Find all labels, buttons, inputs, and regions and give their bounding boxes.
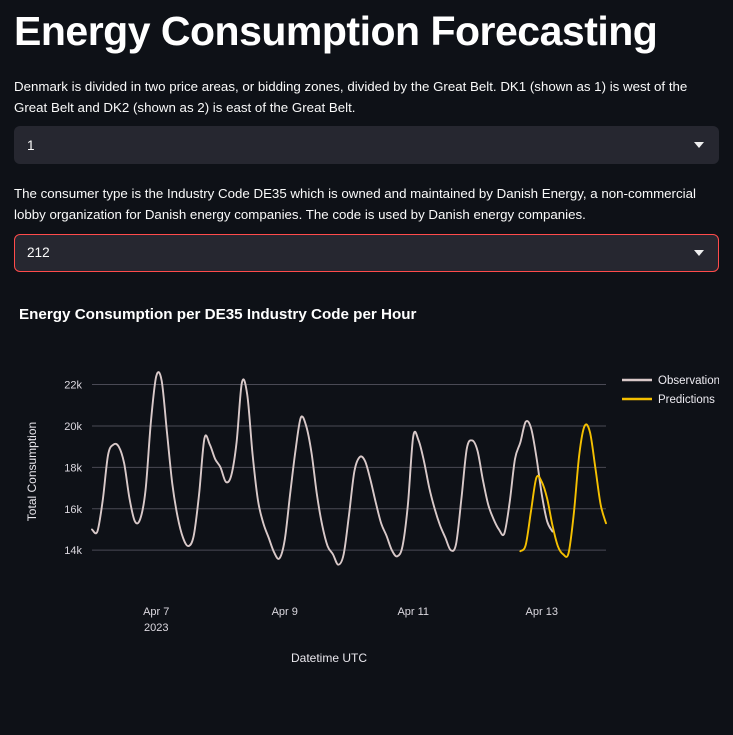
observations-line (92, 372, 552, 565)
x-tick-sublabel: 2023 (144, 622, 168, 634)
consumer-type-select-value: 212 (27, 245, 694, 260)
y-tick-label: 16k (64, 503, 82, 515)
y-axis-title: Total Consumption (25, 421, 39, 520)
consumer-type-description: The consumer type is the Industry Code D… (14, 184, 719, 225)
chart-svg: 14k16k18k20k22kTotal ConsumptionApr 7202… (14, 323, 719, 703)
predictions-line (520, 424, 606, 557)
chart-title: Energy Consumption per DE35 Industry Cod… (19, 306, 719, 323)
y-tick-label: 20k (64, 421, 82, 433)
legend-label: Observations (658, 375, 719, 387)
consumer-type-select[interactable]: 212 (14, 234, 719, 272)
app-page: Energy Consumption Forecasting Denmark i… (0, 8, 733, 735)
x-tick-label: Apr 7 (143, 606, 169, 618)
chevron-down-icon (694, 250, 704, 256)
page-title: Energy Consumption Forecasting (14, 8, 719, 55)
price-area-description: Denmark is divided in two price areas, o… (14, 77, 719, 118)
x-tick-label: Apr 9 (272, 606, 298, 618)
x-tick-label: Apr 11 (397, 606, 429, 618)
energy-consumption-chart: Energy Consumption per DE35 Industry Cod… (14, 306, 719, 706)
price-area-select[interactable]: 1 (14, 126, 719, 164)
y-tick-label: 18k (64, 462, 82, 474)
x-axis-title: Datetime UTC (291, 651, 367, 665)
y-tick-label: 22k (64, 379, 82, 391)
legend-label: Predictions (658, 394, 715, 406)
x-tick-label: Apr 13 (526, 606, 558, 618)
price-area-select-value: 1 (27, 138, 694, 153)
chart-canvas: 14k16k18k20k22kTotal ConsumptionApr 7202… (14, 323, 719, 703)
y-tick-label: 14k (64, 545, 82, 557)
chevron-down-icon (694, 142, 704, 148)
